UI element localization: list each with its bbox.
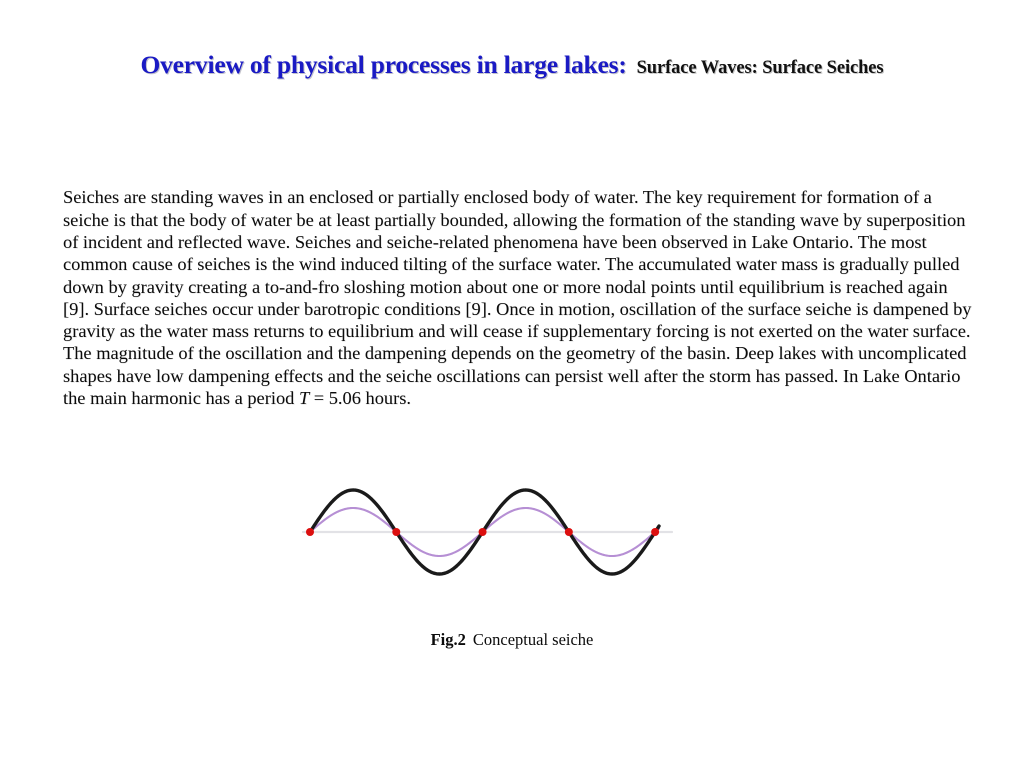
page-title-subtitle: Surface Waves: Surface Seiches [637,58,884,78]
body-paragraph: Seiches are standing waves in an enclose… [63,186,975,409]
page-title: Overview of physical processes in large … [0,50,1024,80]
nodal-point [651,528,659,536]
seiche-figure [290,470,690,600]
period-variable-symbol: T [299,388,309,408]
seiche-chart-svg [290,470,690,600]
figure-caption-label: Fig.2 [431,630,466,649]
nodal-point [565,528,573,536]
body-paragraph-part-1: Seiches are standing waves in an enclose… [63,187,972,408]
nodal-point [306,528,314,536]
page-title-main: Overview of physical processes in large … [141,50,627,79]
nodal-point [479,528,487,536]
body-paragraph-part-2: = 5.06 hours. [309,388,411,408]
nodal-point [392,528,400,536]
figure-caption: Fig.2Conceptual seiche [0,630,1024,650]
figure-caption-text: Conceptual seiche [473,630,594,649]
